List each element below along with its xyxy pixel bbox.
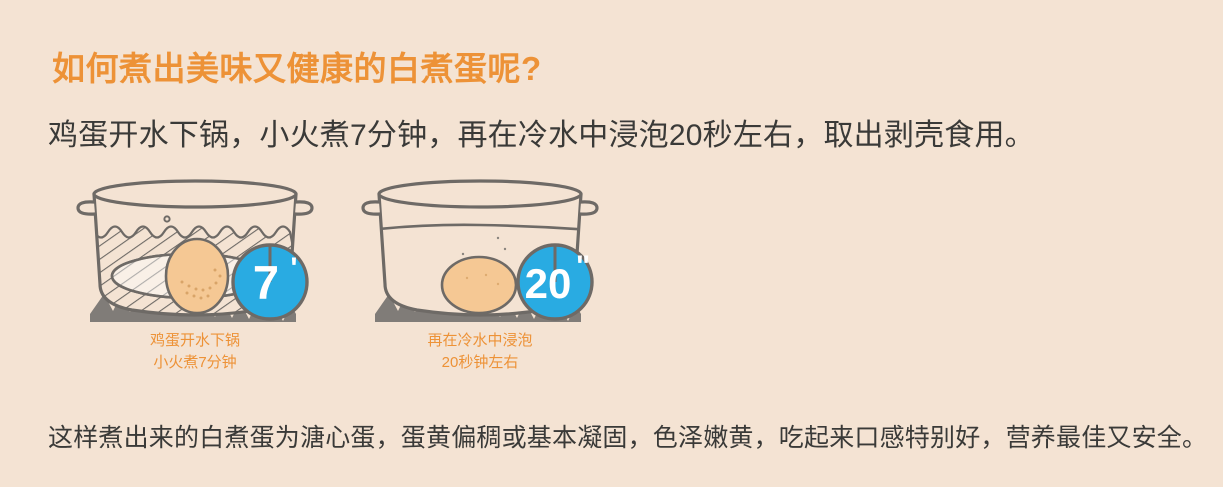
infographic-page: 如何煮出美味又健康的白煮蛋呢? 鸡蛋开水下锅，小火煮7分钟，再在冷水中浸泡20秒…: [0, 0, 1223, 487]
badge-value: 7: [253, 256, 279, 309]
caption-line-2: 20秒钟左右: [355, 352, 605, 374]
page-title: 如何煮出美味又健康的白煮蛋呢?: [52, 42, 542, 90]
badge-unit: ": [576, 250, 590, 283]
egg-icon: [166, 239, 228, 313]
closing-paragraph: 这样煮出来的白煮蛋为溏心蛋，蛋黄偏稠或基本凝固，色泽嫩黄，吃起来口感特别好，营养…: [48, 418, 1207, 454]
boiling-pot-illustration: 7 ': [70, 172, 320, 322]
timer-badge-20: 20 ": [518, 244, 592, 319]
caption-line-2: 小火煮7分钟: [70, 352, 320, 374]
cold-water-pot-illustration: 20 ": [355, 172, 605, 322]
step-caption-soak: 再在冷水中浸泡 20秒钟左右: [355, 330, 605, 374]
steps-container: 7 ' 鸡蛋开水下锅 小火煮7分钟: [60, 172, 620, 387]
step-caption-boil: 鸡蛋开水下锅 小火煮7分钟: [70, 330, 320, 374]
step-boil: 7 ' 鸡蛋开水下锅 小火煮7分钟: [70, 172, 350, 387]
badge-unit: ': [290, 252, 297, 285]
timer-badge-7: 7 ': [233, 244, 307, 319]
egg-icon: [442, 257, 516, 313]
step-soak: 20 " 再在冷水中浸泡 20秒钟左右: [355, 172, 635, 387]
caption-line-1: 再在冷水中浸泡: [355, 330, 605, 352]
badge-value: 20: [525, 260, 572, 307]
caption-line-1: 鸡蛋开水下锅: [70, 330, 320, 352]
lead-paragraph: 鸡蛋开水下锅，小火煮7分钟，再在冷水中浸泡20秒左右，取出剥壳食用。: [48, 110, 1035, 154]
